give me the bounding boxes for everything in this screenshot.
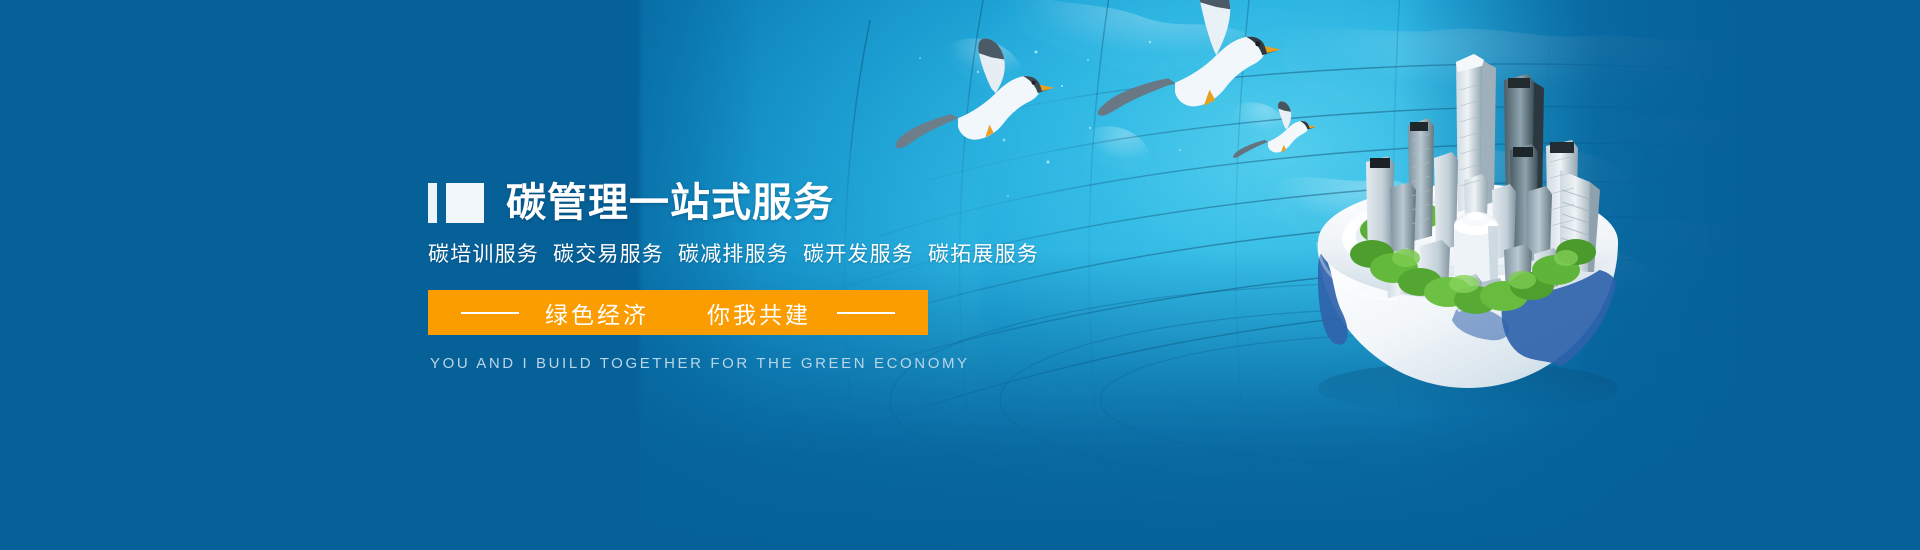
deco-square-icon [446,183,484,223]
slogan-text-left: 绿色经济 [545,296,649,330]
bar-square-mark-icon [428,183,484,223]
slogan-bar[interactable]: 绿色经济 你我共建 [428,290,928,335]
page-title: 碳管理一站式服务 [506,181,834,225]
banner-copy: 碳管理一站式服务 碳培训服务 碳交易服务 碳减排服务 碳开发服务 碳拓展服务 绿… [428,178,1048,372]
service-item-carbon-trading[interactable]: 碳交易服务 [553,238,664,268]
city-on-globe-illustration [1260,30,1680,430]
slogan-text-right: 你我共建 [707,296,811,330]
dash-left-icon [461,312,519,314]
seagull-icon-right [1098,0,1281,116]
globe-svg [1260,30,1680,430]
service-list: 碳培训服务 碳交易服务 碳减排服务 碳开发服务 碳拓展服务 [428,238,1048,268]
dash-right-icon [837,312,895,314]
english-tagline: YOU AND I BUILD TOGETHER FOR THE GREEN E… [430,355,1048,372]
deco-bar-icon [428,183,437,223]
service-item-carbon-training[interactable]: 碳培训服务 [428,238,539,268]
service-item-carbon-reduction[interactable]: 碳减排服务 [678,238,789,268]
service-item-carbon-expansion[interactable]: 碳拓展服务 [928,238,1039,268]
service-item-carbon-development[interactable]: 碳开发服务 [803,238,914,268]
headline-row: 碳管理一站式服务 [428,178,1048,228]
seagull-icon-left [895,39,1054,149]
carbon-management-banner: 碳管理一站式服务 碳培训服务 碳交易服务 碳减排服务 碳开发服务 碳拓展服务 绿… [0,0,1920,550]
